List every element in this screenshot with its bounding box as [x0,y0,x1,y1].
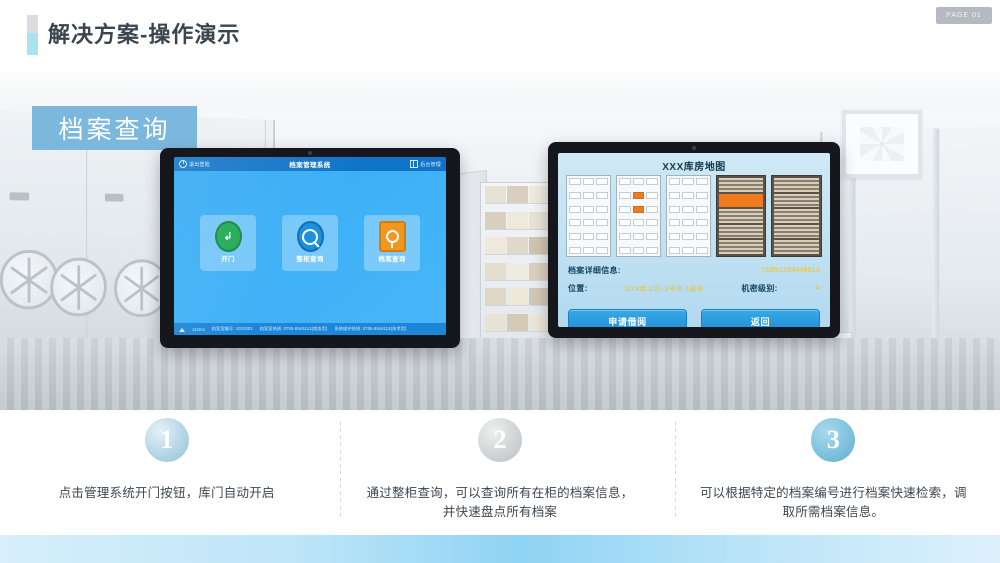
step-2-text: 通过整柜查询，可以查询所有在柜的档案信息，并快速盘点所有档案 [363,484,636,522]
tile-open-door-label: 开门 [221,253,235,263]
power-icon [179,160,187,168]
status-ping: 113ms [192,327,205,332]
slide-header: 解决方案-操作演示 PAGE 01 [0,0,1000,70]
grid-icon [410,160,418,168]
section-ribbon: 档案查询 [32,106,197,150]
step-1-text: 点击管理系统开门按钮，库门自动开启 [30,484,303,503]
admin-button[interactable]: 后台管理 [410,160,441,168]
position-row: 位置: XXX库-C区-3号柜-1层号 机密级别: A [568,283,820,294]
map-group-b[interactable] [616,175,661,257]
position-label: 位置: [568,283,588,294]
map-group-e[interactable] [771,175,822,257]
warehouse-map[interactable] [566,175,822,257]
tile-archive-query-label: 档案查询 [378,253,405,263]
step-1: 1 点击管理系统开门按钮，库门自动开启 [0,410,333,530]
archive-management-screen: 退出登陆 档案管理系统 后台管理 ↲ 开门 整柜查询 [174,157,446,335]
tile-open-door[interactable]: ↲ 开门 [200,215,256,271]
action-buttons: 申请借阅 返回 [568,309,820,327]
step-2-number: 2 [478,418,522,462]
steps-section: 1 点击管理系统开门按钮，库门自动开启 2 通过整柜查询，可以查询所有在柜的档案… [0,410,1000,530]
step-3-text: 可以根据特定的档案编号进行档案快速检索，调取所需档案信息。 [697,484,970,522]
detail-row: 档案详细信息: ISBN1234448613 [568,265,820,276]
map-group-c[interactable] [666,175,711,257]
level-label: 机密级别: [741,283,777,294]
status-cabinet-id: 档案室编号: 1022001 [212,326,253,332]
level-value: A [815,285,820,292]
map-group-a[interactable] [566,175,611,257]
step-2: 2 通过整柜查询，可以查询所有在柜的档案信息，并快速盘点所有档案 [333,410,666,530]
detail-label: 档案详细信息: [568,265,621,276]
position-value: XXX库-C区-3号柜-1层号 [625,284,704,294]
detail-code: ISBN1234448613 [762,267,820,274]
map-title: XXX库房地图 [558,158,830,173]
camera-icon [692,146,696,150]
header-accent-bar [27,15,38,55]
photo-stage: 档案查询 退出登陆 档案管理系统 后台管理 [0,70,1000,410]
app-top-bar: 退出登陆 档案管理系统 后台管理 [174,157,446,171]
step-1-number: 1 [145,418,189,462]
app-status-bar: 113ms 档案室编号: 1022001 档案室热线: 0755-8944113… [174,323,446,335]
logout-button[interactable]: 退出登陆 [179,160,210,168]
slide-root: 解决方案-操作演示 PAGE 01 [0,0,1000,563]
right-tablet-device: XXX库房地图 [548,142,840,338]
borrow-request-button[interactable]: 申请借阅 [568,309,687,327]
step-3: 3 可以根据特定的档案编号进行档案快速检索，调取所需档案信息。 [667,410,1000,530]
admin-label: 后台管理 [420,161,441,168]
left-tablet-device: 退出登陆 档案管理系统 后台管理 ↲ 开门 整柜查询 [160,148,460,348]
warehouse-map-screen: XXX库房地图 [558,153,830,327]
status-service-line: 系统维护热线: 0755-8944113(技术用) [334,326,406,332]
magnifier-icon [297,223,324,250]
section-ribbon-label: 档案查询 [58,110,170,146]
tile-cabinet-query-label: 整柜查询 [296,253,323,263]
wifi-icon [179,327,185,332]
page-title: 解决方案-操作演示 [48,20,240,50]
slide-footer [0,535,1000,563]
step-3-number: 3 [811,418,855,462]
function-tiles: ↲ 开门 整柜查询 档案查询 [174,215,446,271]
floor [0,338,1000,410]
logout-label: 退出登陆 [189,161,210,168]
page-number-badge: PAGE 01 [936,7,992,24]
camera-icon [308,151,312,155]
wall-picture [842,110,922,178]
tile-archive-query[interactable]: 档案查询 [364,215,420,271]
door-enter-icon: ↲ [215,223,242,250]
back-button[interactable]: 返回 [701,309,820,327]
location-pin-icon [379,223,406,250]
map-group-d[interactable] [716,175,767,257]
tile-cabinet-query[interactable]: 整柜查询 [282,215,338,271]
status-hotline: 档案室热线: 0755-8944113(商务用) [260,326,328,332]
app-title: 档案管理系统 [210,159,410,169]
archive-detail-panel: 档案详细信息: ISBN1234448613 位置: XXX库-C区-3号柜-1… [568,265,820,301]
